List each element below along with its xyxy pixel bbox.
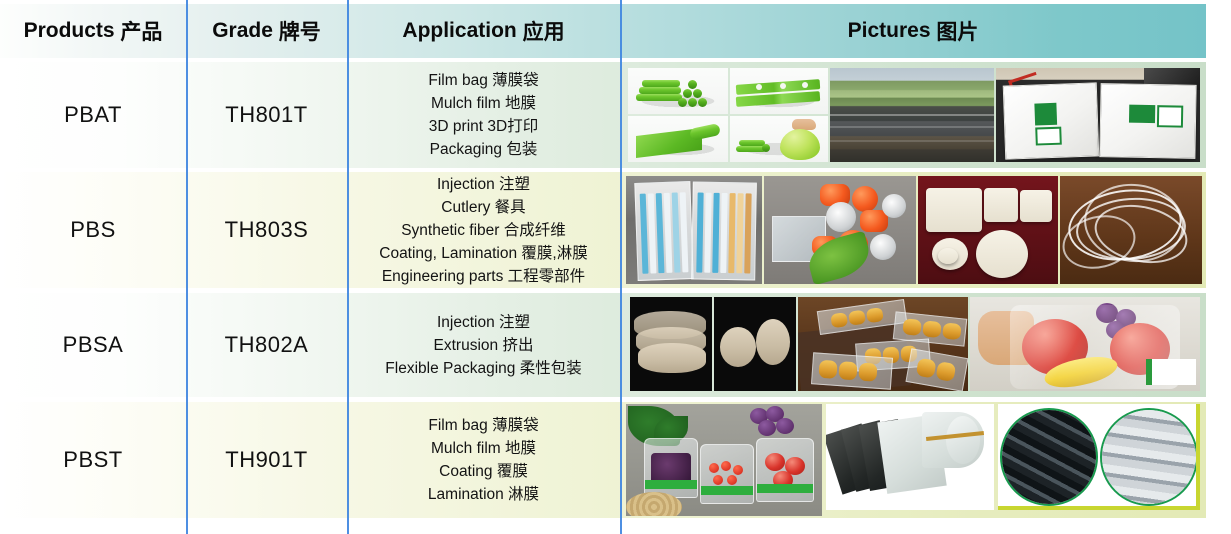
image-orange-coffee-capsules — [764, 176, 916, 284]
product-name-cell: PBS — [0, 172, 186, 288]
application-item: Film bag 薄膜袋 — [428, 69, 538, 92]
header-application-zh: 应用 — [523, 16, 565, 46]
application-item: 3D print 3D打印 — [428, 115, 538, 138]
application-list: Injection 注塑 Cutlery 餐具 Synthetic fiber … — [379, 173, 587, 288]
image-molded-tableware — [918, 176, 1058, 284]
table-row: PBSA TH802A Injection 注塑 Extrusion 挤出 Fl… — [0, 293, 1206, 397]
image-green-film-roll — [628, 116, 728, 162]
product-name: PBSA — [63, 332, 124, 358]
image-beige-oval-trays — [714, 297, 796, 391]
product-name-cell: PBST — [0, 402, 186, 518]
image-dark-film-rolls-circle — [1000, 408, 1098, 506]
application-item: Flexible Packaging 柔性包装 — [385, 357, 581, 380]
image-mulch-film-field — [830, 68, 994, 162]
product-name-cell: PBAT — [0, 62, 186, 168]
product-name: PBAT — [64, 102, 122, 128]
application-cell: Injection 注塑 Cutlery 餐具 Synthetic fiber … — [347, 172, 620, 288]
application-item: Mulch film 地膜 — [428, 92, 538, 115]
image-green-bag-in-hand — [730, 116, 828, 162]
application-item: Coating 覆膜 — [428, 460, 539, 483]
column-header-products: Products 产品 — [0, 4, 186, 58]
grade-cell: TH802A — [186, 293, 347, 397]
image-white-packaging-bags — [996, 68, 1200, 162]
table-row: PBS TH803S Injection 注塑 Cutlery 餐具 Synth… — [0, 172, 1206, 288]
pictures-cell — [620, 293, 1206, 397]
header-pictures-zh: 图片 — [936, 16, 978, 46]
application-item: Packaging 包装 — [428, 138, 538, 161]
application-item: Coating, Lamination 覆膜,淋膜 — [379, 242, 587, 265]
picture-collage — [620, 172, 1206, 288]
picture-collage — [620, 293, 1206, 397]
column-divider — [347, 0, 349, 534]
application-item: Lamination 淋膜 — [428, 483, 539, 506]
image-green-bag-roll-pyramid — [628, 68, 728, 114]
application-item: Synthetic fiber 合成纤维 — [379, 219, 587, 242]
grade-cell: TH801T — [186, 62, 347, 168]
column-header-pictures: Pictures 图片 — [620, 4, 1206, 58]
image-green-bag-flat-rolls — [730, 68, 828, 114]
image-white-synthetic-fiber — [1060, 176, 1202, 284]
products-table: Products 产品 Grade 牌号 Application 应用 Pict… — [0, 0, 1231, 534]
application-cell: Film bag 薄膜袋 Mulch film 地膜 Coating 覆膜 La… — [347, 402, 620, 518]
application-item: Mulch film 地膜 — [428, 437, 539, 460]
table-header-row: Products 产品 Grade 牌号 Application 应用 Pict… — [0, 4, 1206, 58]
grade-code: TH802A — [225, 332, 309, 358]
image-film-roll-circles — [998, 404, 1200, 510]
application-cell: Film bag 薄膜袋 Mulch film 地膜 3D print 3D打印… — [347, 62, 620, 168]
product-name-cell: PBSA — [0, 293, 186, 397]
grade-code: TH803S — [225, 217, 309, 243]
pictures-cell — [620, 172, 1206, 288]
column-header-grade: Grade 牌号 — [186, 4, 347, 58]
header-products-zh: 产品 — [120, 16, 162, 46]
grade-code: TH901T — [225, 447, 307, 473]
application-item: Film bag 薄膜袋 — [428, 414, 539, 437]
application-cell: Injection 注塑 Extrusion 挤出 Flexible Packa… — [347, 293, 620, 397]
grade-code: TH801T — [225, 102, 307, 128]
picture-collage — [620, 402, 1206, 518]
image-clear-film-rolls-circle — [1100, 408, 1198, 506]
product-name: PBS — [70, 217, 116, 243]
application-item: Injection 注塑 — [385, 311, 581, 334]
header-grade-zh: 牌号 — [279, 16, 321, 46]
grade-cell: TH901T — [186, 402, 347, 518]
header-grade-en: Grade — [212, 19, 273, 43]
application-item: Extrusion 挤出 — [385, 334, 581, 357]
picture-collage — [620, 62, 1206, 168]
application-list: Injection 注塑 Extrusion 挤出 Flexible Packa… — [385, 311, 581, 380]
image-packaged-baked-goods — [798, 297, 968, 391]
image-hand-wrapping-fruit — [970, 297, 1200, 391]
pictures-cell — [620, 402, 1206, 518]
image-beige-trays-stack — [630, 297, 712, 391]
application-list: Film bag 薄膜袋 Mulch film 地膜 Coating 覆膜 La… — [428, 414, 539, 506]
product-name: PBST — [63, 447, 122, 473]
application-item: Injection 注塑 — [379, 173, 587, 196]
table-row: PBAT TH801T Film bag 薄膜袋 Mulch film 地膜 3… — [0, 62, 1206, 168]
header-pictures-en: Pictures — [848, 19, 931, 43]
header-application-en: Application — [402, 19, 516, 43]
column-divider — [620, 0, 622, 534]
image-packaged-straws — [626, 176, 762, 284]
column-header-application: Application 应用 — [347, 4, 620, 58]
image-bagged-fresh-fruit — [626, 404, 822, 516]
pictures-cell — [620, 62, 1206, 168]
column-divider — [186, 0, 188, 534]
grade-cell: TH803S — [186, 172, 347, 288]
application-list: Film bag 薄膜袋 Mulch film 地膜 3D print 3D打印… — [428, 69, 538, 161]
header-products-en: Products — [24, 19, 115, 43]
table-row: PBST TH901T Film bag 薄膜袋 Mulch film 地膜 C… — [0, 402, 1206, 518]
application-item: Engineering parts 工程零部件 — [379, 265, 587, 288]
image-courier-mailer-bags — [826, 404, 994, 510]
application-item: Cutlery 餐具 — [379, 196, 587, 219]
